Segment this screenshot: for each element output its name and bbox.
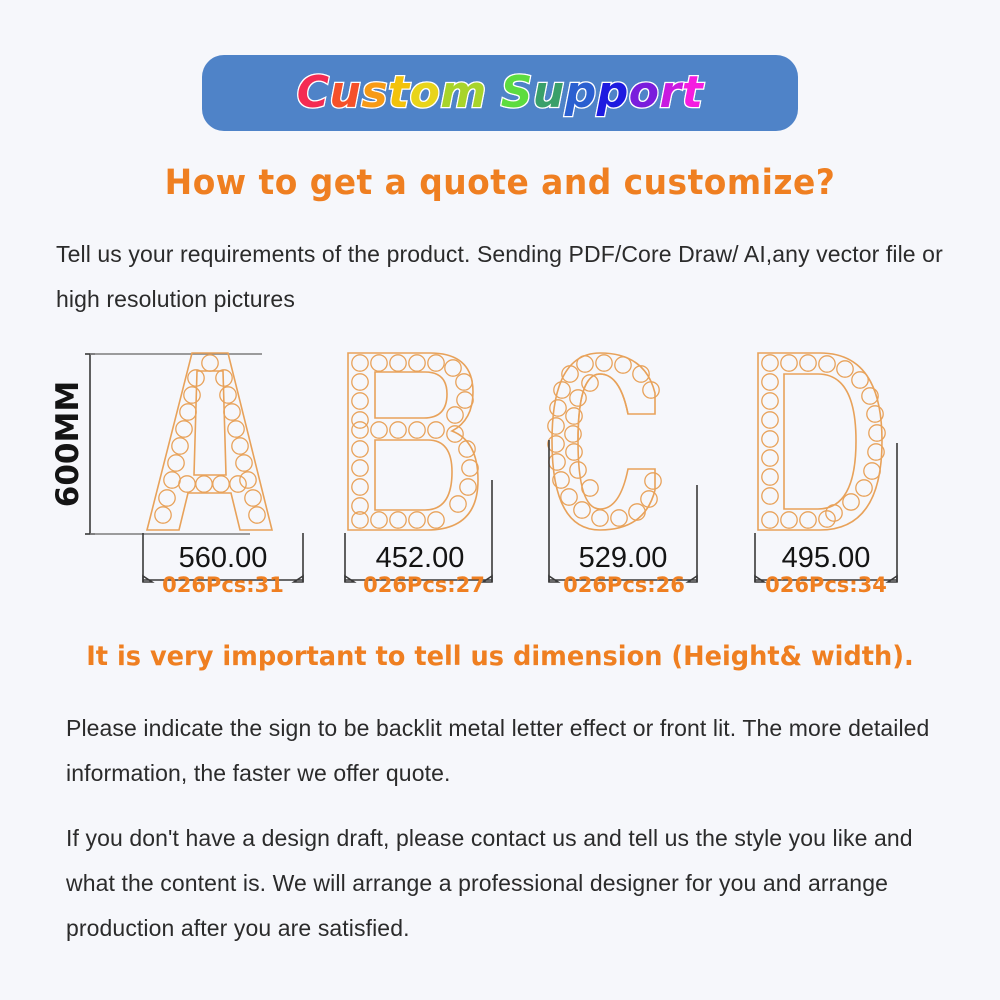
letter-d-pcs-label: 026Pcs:34 bbox=[765, 573, 887, 597]
letter-d-width-value: 495.00 bbox=[782, 542, 871, 574]
banner-title: CustomSupport bbox=[297, 71, 703, 115]
banner-title-letter: t bbox=[682, 67, 704, 118]
arrow-left bbox=[345, 576, 354, 582]
banner-title-letter: s bbox=[361, 67, 388, 118]
custom-support-banner: CustomSupport bbox=[202, 55, 798, 131]
letter-a-group: 560.00 026Pcs:31 bbox=[143, 353, 303, 597]
height-label: 600MM bbox=[50, 381, 86, 507]
backlit-paragraph: Please indicate the sign to be backlit m… bbox=[66, 706, 966, 796]
page-title: How to get a quote and customize? bbox=[30, 163, 970, 203]
arrow-right bbox=[688, 576, 697, 582]
letter-a-width-value: 560.00 bbox=[179, 542, 268, 574]
arrow-right bbox=[294, 576, 303, 582]
arrow-left bbox=[143, 576, 152, 582]
arrow-left bbox=[549, 576, 558, 582]
banner-title-letter: p bbox=[597, 67, 629, 118]
letter-c-outline bbox=[552, 353, 655, 530]
banner-title-letter: u bbox=[330, 67, 362, 118]
letter-b-width-value: 452.00 bbox=[376, 542, 465, 574]
letter-dimension-diagram: 600MM 560.00 026P bbox=[0, 330, 1000, 620]
banner-title-letter: S bbox=[501, 67, 533, 118]
banner-title-letter: r bbox=[659, 67, 681, 118]
letter-a-outline bbox=[147, 353, 272, 530]
letter-c-pcs-label: 026Pcs:26 bbox=[563, 573, 685, 597]
arrow-right bbox=[888, 576, 897, 582]
banner-title-letter: o bbox=[410, 67, 441, 118]
letter-b-leds bbox=[352, 355, 478, 528]
letter-b-group: 452.00 026Pcs:27 bbox=[345, 353, 492, 597]
letter-b-pcs-label: 026Pcs:27 bbox=[363, 573, 485, 597]
banner-title-letter: u bbox=[533, 67, 565, 118]
intro-paragraph: Tell us your requirements of the product… bbox=[56, 232, 966, 322]
letter-a-pcs-label: 026Pcs:31 bbox=[162, 573, 284, 597]
banner-container: CustomSupport bbox=[0, 55, 1000, 131]
letter-c-leds bbox=[548, 355, 661, 526]
banner-title-letter: t bbox=[388, 67, 410, 118]
banner-title-letter: o bbox=[629, 67, 660, 118]
letter-d-group: 495.00 026Pcs:34 bbox=[755, 353, 897, 597]
dimension-emphasis-note: It is very important to tell us dimensio… bbox=[25, 641, 975, 672]
letter-d-leds bbox=[762, 355, 885, 528]
arrow-left bbox=[755, 576, 764, 582]
letter-c-width-value: 529.00 bbox=[579, 542, 668, 574]
banner-title-letter: m bbox=[440, 67, 486, 118]
draft-paragraph: If you don't have a design draft, please… bbox=[66, 816, 966, 951]
letter-c-group: 529.00 026Pcs:26 bbox=[548, 353, 697, 597]
banner-title-letter: p bbox=[565, 67, 597, 118]
height-dimension-group: 600MM bbox=[50, 354, 262, 534]
letter-d-outline bbox=[758, 353, 882, 530]
banner-title-letter: C bbox=[297, 67, 330, 118]
